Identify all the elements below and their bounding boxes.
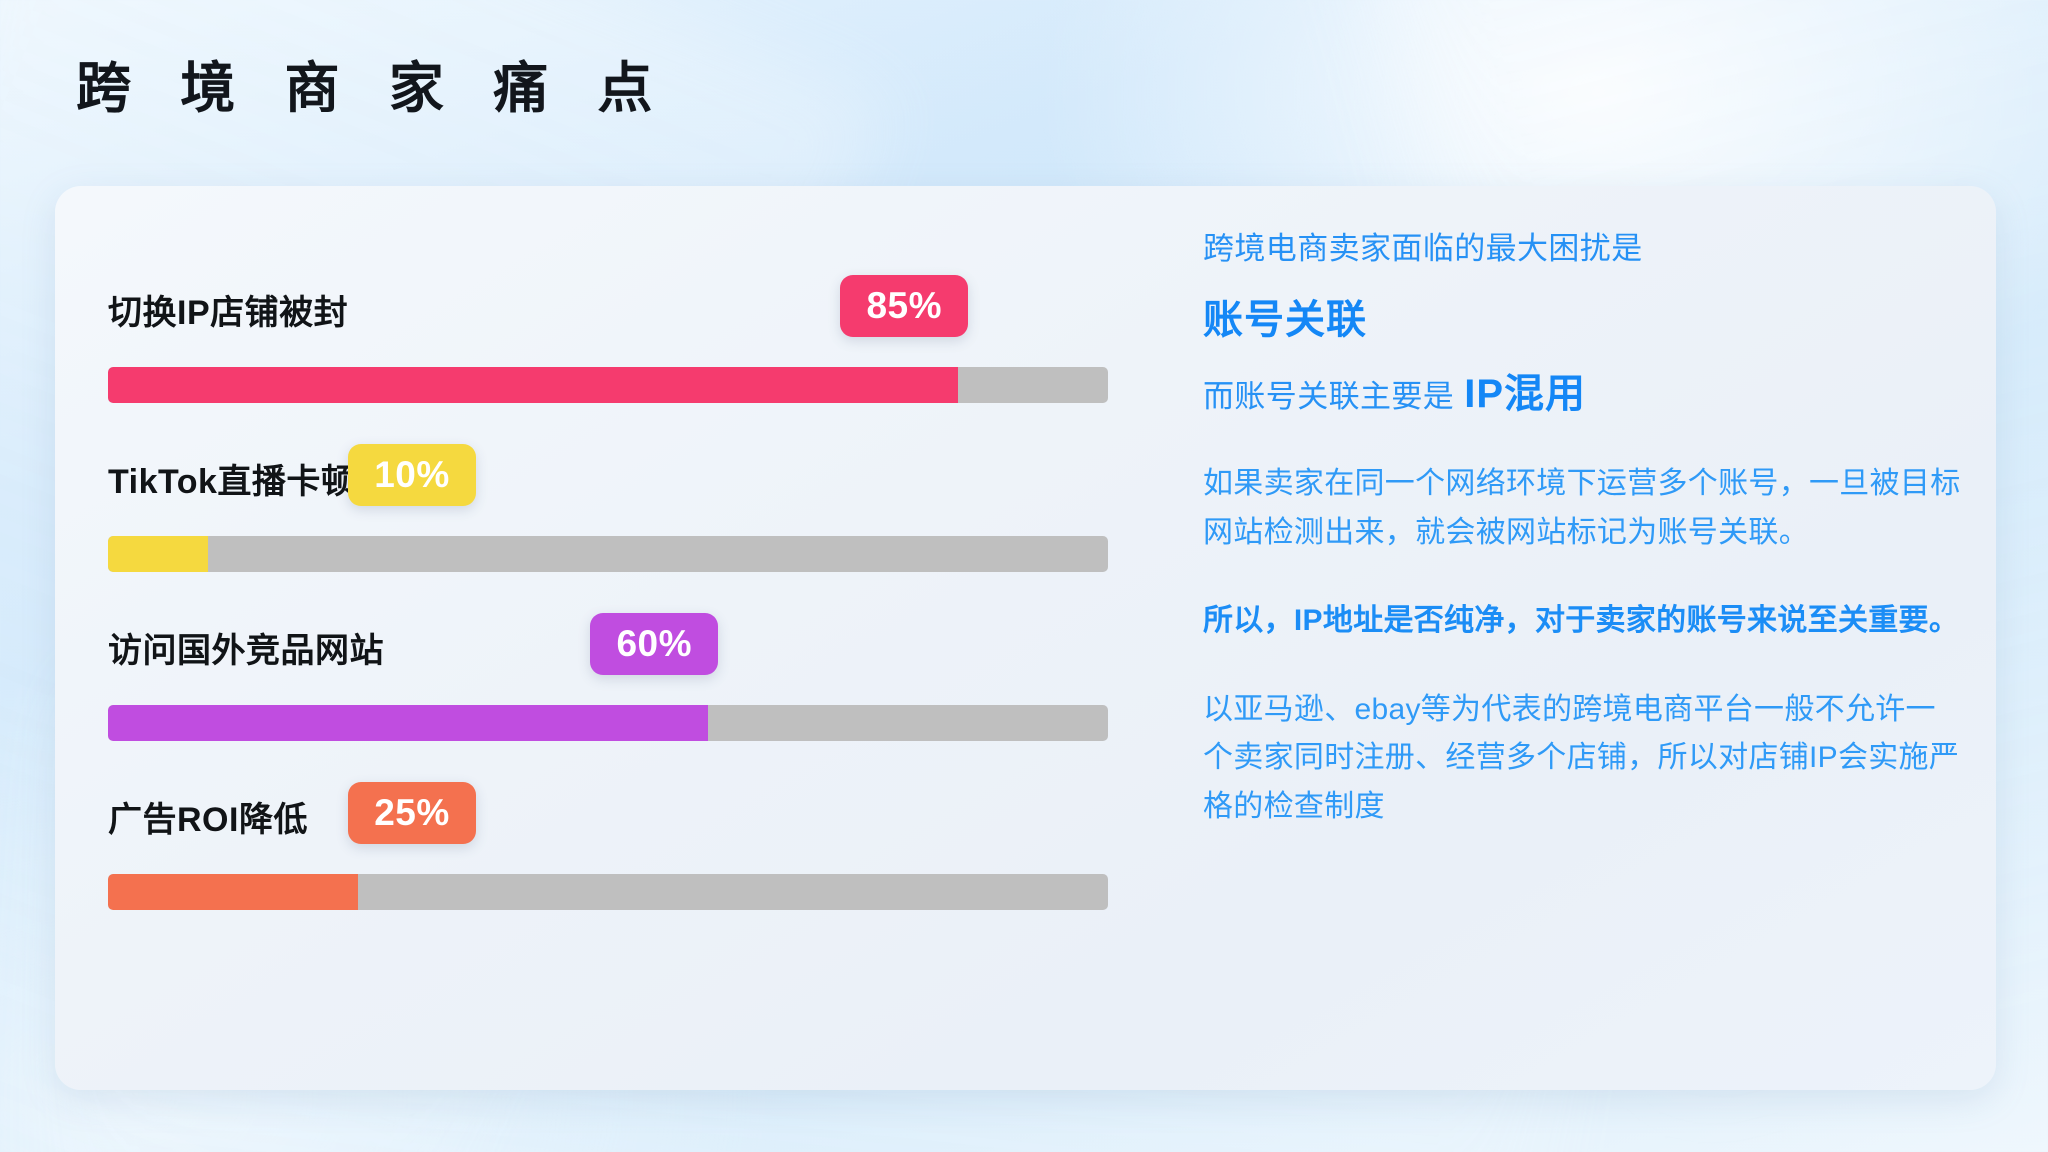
bar-track: [108, 874, 1108, 910]
info-paragraph-1: 如果卖家在同一个网络环境下运营多个账号，一旦被目标网站检测出来，就会被网站标记为…: [1203, 460, 1963, 557]
pain-point-bar-chart: 切换IP店铺被封 85% TikTok直播卡顿 10% 访问国外竞品网站 60%: [108, 261, 1168, 937]
info-lead-line: 跨境电商卖家面临的最大困扰是: [1203, 226, 1963, 273]
bar-row: 广告ROI降低 25%: [108, 768, 1168, 937]
bar-row: 访问国外竞品网站 60%: [108, 599, 1168, 768]
bar-value-badge: 10%: [348, 444, 476, 506]
bar-label: 切换IP店铺被封: [108, 285, 348, 334]
bar-header: 访问国外竞品网站 60%: [108, 599, 1168, 695]
bar-header: 广告ROI降低 25%: [108, 768, 1168, 864]
info-lead-row-strong: IP混用: [1464, 361, 1586, 419]
info-lead-strong: 账号关联: [1203, 287, 1963, 345]
info-lead-row-prefix: 而账号关联主要是: [1203, 374, 1454, 421]
bar-track: [108, 705, 1108, 741]
bar-value-badge: 85%: [840, 275, 968, 337]
bar-label: 访问国外竞品网站: [108, 623, 384, 672]
info-lead-row: 而账号关联主要是 IP混用: [1203, 361, 1963, 421]
bar-track: [108, 367, 1108, 403]
bar-row: TikTok直播卡顿 10%: [108, 430, 1168, 599]
page-title: 跨 境 商 家 痛 点: [76, 58, 669, 119]
bar-value-badge: 60%: [590, 613, 718, 675]
bar-fill: [108, 874, 358, 910]
info-paragraph-3: 以亚马逊、ebay等为代表的跨境电商平台一般不允许一个卖家同时注册、经营多个店铺…: [1203, 686, 1963, 832]
bar-fill: [108, 536, 208, 572]
bar-header: TikTok直播卡顿 10%: [108, 430, 1168, 526]
bar-value-badge: 25%: [348, 782, 476, 844]
bar-label: TikTok直播卡顿: [108, 454, 355, 503]
info-panel: 跨境电商卖家面临的最大困扰是 账号关联 而账号关联主要是 IP混用 如果卖家在同…: [1203, 226, 1963, 832]
bar-track: [108, 536, 1108, 572]
bar-row: 切换IP店铺被封 85%: [108, 261, 1168, 430]
info-paragraph-2: 所以，IP地址是否纯净，对于卖家的账号来说至关重要。: [1203, 597, 1963, 646]
bar-header: 切换IP店铺被封 85%: [108, 261, 1168, 357]
bar-fill: [108, 367, 958, 403]
content-card: 切换IP店铺被封 85% TikTok直播卡顿 10% 访问国外竞品网站 60%: [55, 186, 1996, 1090]
bar-fill: [108, 705, 708, 741]
bar-label: 广告ROI降低: [108, 792, 308, 841]
